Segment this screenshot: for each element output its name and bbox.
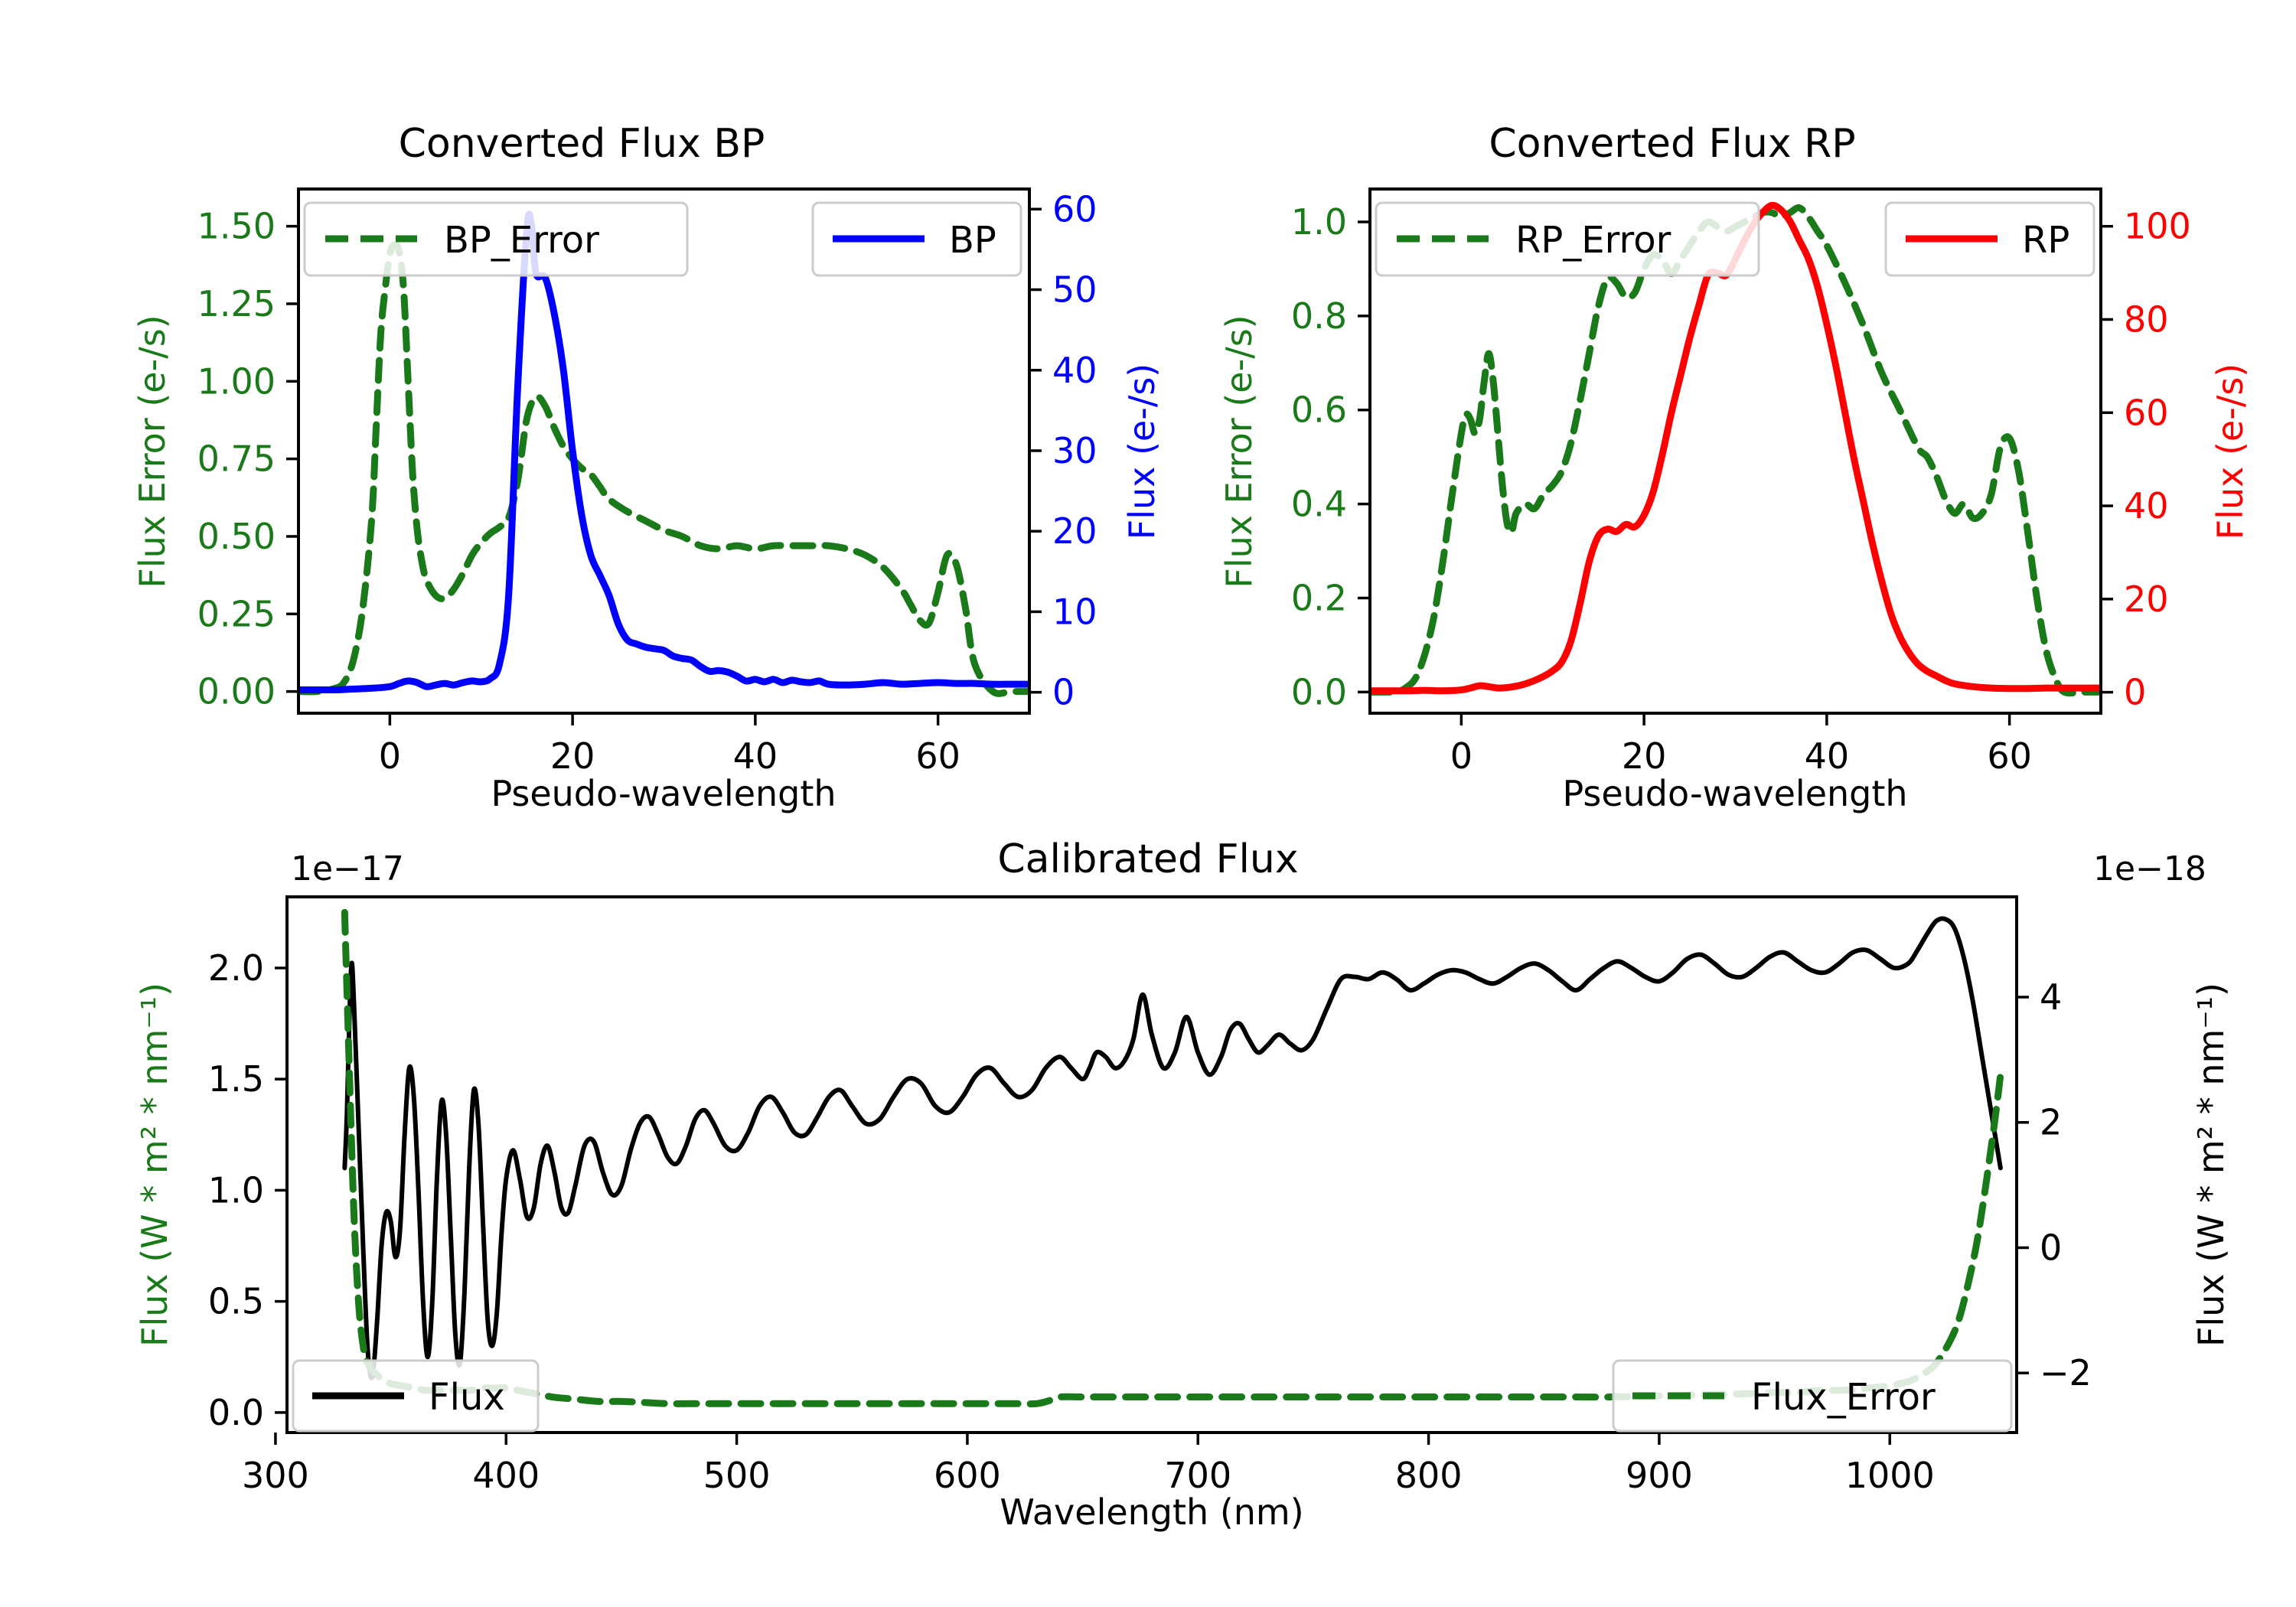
bp-x-tick-label: 60 (915, 735, 960, 777)
cal-x-tick-label: 900 (1626, 1455, 1693, 1496)
bp-left-axis-label: Flux Error (e-/s) (132, 315, 173, 588)
bp-legend-error[interactable]: BP_Error (305, 203, 687, 275)
cal-x-axis-label: Wavelength (nm) (1000, 1491, 1303, 1533)
bp-right-tick-label: 30 (1052, 430, 1097, 471)
cal-legend-flux[interactable]: Flux (293, 1361, 538, 1431)
cal-right-offset-label: 1e−18 (2093, 849, 2206, 888)
rp-left-tick-label: 0.2 (1291, 577, 1347, 618)
cal-x-tick-label: 1000 (1845, 1455, 1935, 1496)
bp-x-tick-label: 40 (733, 735, 778, 777)
bp-legend-error-label: BP_Error (444, 219, 599, 262)
rp-x-axis-label: Pseudo-wavelength (1562, 773, 1907, 814)
cal-right-tick-label: −2 (2040, 1352, 2092, 1393)
cal-x-tick-label: 600 (934, 1455, 1001, 1496)
rp-left-tick-label: 0.0 (1291, 671, 1347, 712)
cal-right-tick-label: 0 (2040, 1227, 2062, 1268)
rp-right-tick-label: 20 (2124, 579, 2169, 620)
cal-right-axis-label: Flux (W * m² * nm⁻¹) (2190, 983, 2232, 1347)
rp-title: Converted Flux RP (1489, 121, 1855, 167)
rp-x-tick-label: 0 (1450, 735, 1473, 777)
bp-legend-flux[interactable]: BP (813, 203, 1021, 275)
cal-legend-flux-label: Flux (429, 1376, 505, 1419)
rp-right-tick-label: 80 (2124, 298, 2169, 340)
cal-left-axis-label: Flux (W * m² * nm⁻¹) (134, 983, 175, 1347)
bp-right-tick-label: 20 (1052, 510, 1097, 552)
bp-title: Converted Flux BP (399, 121, 765, 167)
rp-x-tick-label: 60 (1987, 735, 2032, 777)
rp-right-tick-label: 60 (2124, 392, 2169, 433)
cal-left-tick-label: 1.5 (208, 1058, 264, 1100)
cal-x-tick-label: 800 (1395, 1455, 1463, 1496)
cal-x-tick-label: 300 (242, 1455, 309, 1496)
bp-right-tick-label: 40 (1052, 350, 1097, 391)
rp-left-tick-label: 1.0 (1291, 201, 1347, 243)
cal-left-tick-label: 1.0 (208, 1169, 264, 1211)
rp-left-tick-label: 0.8 (1291, 295, 1347, 337)
rp-right-tick-label: 100 (2124, 206, 2191, 247)
bp-right-axis-label: Flux (e-/s) (1121, 363, 1163, 540)
bp-right-tick-label: 60 (1052, 188, 1097, 230)
rp-legend-error-label: RP_Error (1515, 219, 1671, 262)
bp-left-tick-label: 0.50 (197, 516, 276, 557)
rp-right-tick-label: 40 (2124, 485, 2169, 526)
bp-right-tick-label: 10 (1052, 591, 1097, 632)
cal-right-tick-label: 2 (2040, 1102, 2062, 1143)
bp-x-tick-label: 20 (550, 735, 595, 777)
rp-left-tick-label: 0.4 (1291, 484, 1347, 525)
bp-left-tick-label: 0.75 (197, 438, 276, 480)
rp-x-tick-label: 40 (1805, 735, 1850, 777)
bp-left-tick-label: 0.00 (197, 671, 276, 712)
cal-x-tick-label: 400 (472, 1455, 540, 1496)
cal-title: Calibrated Flux (997, 836, 1298, 882)
bp-left-tick-label: 1.50 (197, 206, 276, 247)
cal-left-tick-label: 2.0 (208, 947, 264, 989)
bp-x-axis-label: Pseudo-wavelength (491, 773, 836, 814)
bp-left-tick-label: 0.25 (197, 593, 276, 634)
rp-legend-error[interactable]: RP_Error (1376, 203, 1759, 275)
cal-left-offset-label: 1e−17 (291, 849, 404, 888)
bp-right-tick-label: 0 (1052, 672, 1075, 713)
bp-left-tick-label: 1.25 (197, 283, 276, 324)
rp-left-axis-label: Flux Error (e-/s) (1218, 315, 1260, 588)
bp-legend-flux-label: BP (949, 219, 996, 262)
cal-x-tick-label: 500 (703, 1455, 771, 1496)
cal-left-tick-label: 0.5 (208, 1281, 264, 1322)
rp-legend-flux-label: RP (2022, 219, 2069, 262)
cal-right-tick-label: 4 (2040, 976, 2062, 1018)
cal-x-tick-label: 700 (1164, 1455, 1231, 1496)
rp-right-axis-label: Flux (e-/s) (2210, 363, 2251, 540)
bp-left-tick-label: 1.00 (197, 360, 276, 402)
rp-legend-flux[interactable]: RP (1886, 203, 2094, 275)
bp-x-tick-label: 0 (379, 735, 401, 777)
rp-x-tick-label: 20 (1622, 735, 1667, 777)
cal-left-tick-label: 0.0 (208, 1392, 264, 1433)
figure-canvas: Converted Flux BP 0.000.250.500.751.001.… (0, 0, 2296, 1607)
rp-right-tick-label: 0 (2124, 672, 2146, 713)
cal-legend-error-label: Flux_Error (1751, 1376, 1936, 1419)
bp-right-tick-label: 50 (1052, 269, 1097, 311)
rp-left-tick-label: 0.6 (1291, 390, 1347, 431)
cal-legend-error[interactable]: Flux_Error (1613, 1361, 2011, 1431)
